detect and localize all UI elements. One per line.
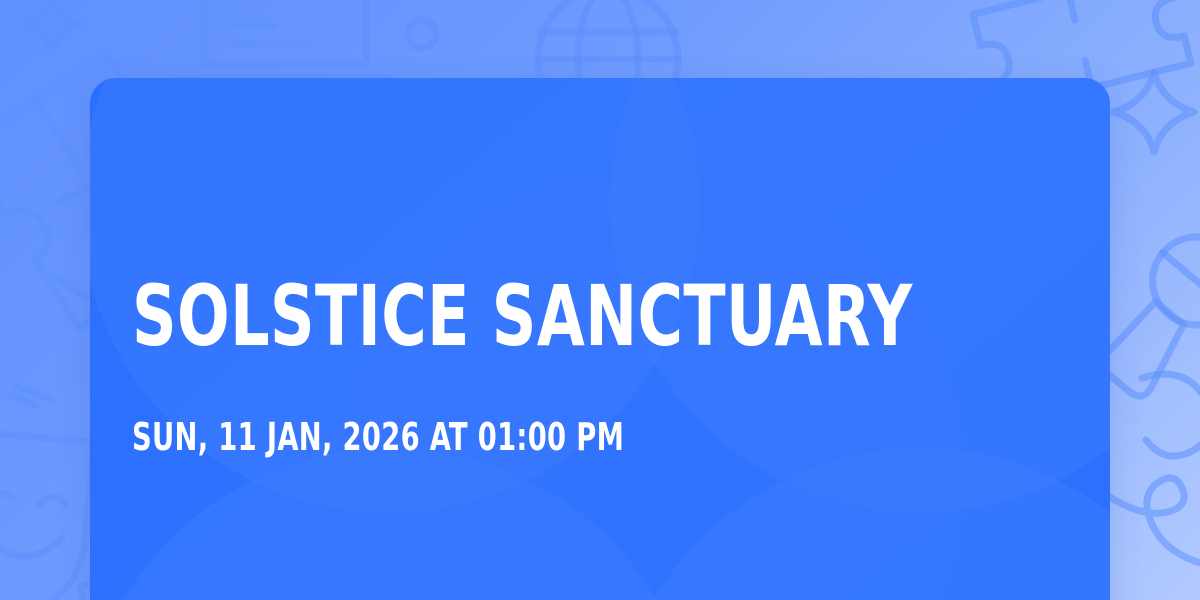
- card-content: SOLSTICE SANCTUARY SUN, 11 JAN, 2026 AT …: [132, 78, 1068, 600]
- sparkle-icon: [16, 0, 86, 60]
- microphone-icon: [1112, 222, 1200, 412]
- event-banner: SOLSTICE SANCTUARY SUN, 11 JAN, 2026 AT …: [0, 0, 1200, 600]
- sparkle-icon: [1106, 64, 1200, 160]
- balloon-icon: [402, 14, 442, 54]
- event-card[interactable]: SOLSTICE SANCTUARY SUN, 11 JAN, 2026 AT …: [90, 78, 1110, 600]
- event-datetime: SUN, 11 JAN, 2026 AT 01:00 PM: [132, 418, 624, 456]
- event-title: SOLSTICE SANCTUARY: [132, 274, 913, 358]
